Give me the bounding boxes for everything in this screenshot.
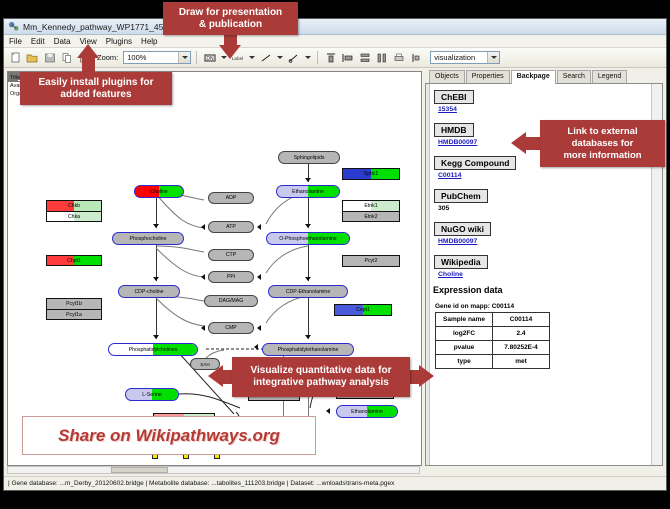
open-folder-icon[interactable] [25, 50, 40, 65]
visualization-value: visualization [431, 53, 487, 62]
arrowhead [153, 335, 159, 339]
callout-link: Link to external databases for more info… [540, 120, 665, 167]
callout-visualize-pointer [208, 365, 223, 387]
datanode-icon[interactable]: DN [202, 50, 217, 65]
pathway-drawing: Title: Availa Organi [8, 72, 421, 465]
table-row: pvalue 7.80252E-4 [436, 341, 550, 355]
node-cept1[interactable]: Cept1 [334, 304, 392, 316]
expression-table: Sample name C00114 log2FC 2.4 pvalue 7.8… [435, 312, 550, 369]
callout-plugins: Easily install plugins for added feature… [20, 72, 172, 105]
tab-objects[interactable]: Objects [429, 70, 465, 83]
node-cdp-ethanolamine[interactable]: CDP-Ethanolamine [268, 285, 348, 298]
node-ppi[interactable]: PPi [208, 271, 254, 283]
node-pcyt2[interactable]: Pcyt2 [342, 255, 400, 267]
expr-key-pvalue: pvalue [436, 341, 493, 355]
pathvisio-icon [8, 21, 19, 32]
zoom-label: Zoom: [97, 53, 118, 62]
node-pcyt1b[interactable]: Pcyt1b [46, 298, 102, 309]
svg-text:DN: DN [206, 56, 214, 62]
toolbar-separator-2 [317, 51, 318, 64]
zoom-combo[interactable]: 100% [123, 51, 191, 64]
cofactor-arc-etn-ppi [258, 244, 314, 280]
expr-key-type: type [436, 355, 493, 369]
db-header-chebi: ChEBI [434, 90, 474, 104]
snap-icon[interactable] [408, 50, 423, 65]
toolbar-separator [196, 51, 197, 64]
stack-vertical-icon[interactable] [357, 50, 372, 65]
node-chkb[interactable]: Chkb [46, 200, 102, 211]
arrowhead [257, 325, 261, 331]
node-ethanolamine-lower[interactable]: Ethanolamine [336, 405, 398, 418]
db-header-hmdb: HMDB [434, 123, 474, 137]
db-header-pubchem: PubChem [434, 189, 488, 203]
node-etnk2[interactable]: Etnk2 [342, 211, 400, 222]
node-o-phosphoethanolamine[interactable]: O-Phosphoethanolamine [266, 232, 350, 245]
callout-plugins-pointer [77, 44, 99, 58]
align-left-icon[interactable] [340, 50, 355, 65]
db-header-kegg-compound: Kegg Compound [434, 156, 516, 170]
pathway-canvas[interactable]: Title: Availa Organi [7, 71, 422, 466]
menu-item-help[interactable]: Help [141, 37, 157, 46]
node-l-serine-left[interactable]: L-Serine [125, 388, 179, 401]
expression-data-heading: Expression data [433, 285, 651, 295]
node-dag-mag[interactable]: DAG/MAG [204, 295, 258, 307]
db-link-wikipedia[interactable]: Choline [438, 271, 651, 278]
node-sptlc1[interactable]: Sptlc1 [342, 168, 400, 180]
node-etnk1[interactable]: Etnk1 [342, 200, 400, 211]
db-header-nugo-wiki: NuGO wiki [434, 222, 491, 236]
interaction-dropdown-icon[interactable] [303, 51, 312, 65]
arrowhead [254, 344, 258, 350]
callout-share: Share on Wikipathways.org [22, 416, 316, 455]
node-chka[interactable]: Chka [46, 211, 102, 222]
tab-search[interactable]: Search [557, 70, 591, 83]
line-dropdown-icon[interactable] [275, 51, 284, 65]
chevron-down-icon[interactable] [178, 52, 190, 63]
node-cmp[interactable]: CMP [208, 322, 254, 334]
gene-id-on-mapp: Gene id on mapp: C00114 [435, 303, 651, 310]
zoom-value: 100% [124, 53, 178, 62]
expr-key-sample-name: Sample name [436, 313, 493, 327]
db-link-kegg-compound[interactable]: C00114 [438, 172, 651, 179]
arrowhead [257, 274, 261, 280]
expr-val-sample-name: C00114 [493, 313, 550, 327]
callout-visualize: Visualize quantitative data for integrat… [232, 357, 410, 397]
tab-backpage[interactable]: Backpage [511, 70, 556, 84]
new-file-icon[interactable] [8, 50, 23, 65]
canvas-horizontal-scrollbar[interactable] [7, 466, 420, 474]
arrowhead [305, 335, 311, 339]
line-icon[interactable] [258, 50, 273, 65]
scrollbar-thumb[interactable] [111, 467, 169, 473]
align-top-icon[interactable] [323, 50, 338, 65]
title-bar: Mm_Kennedy_pathway_WP1771_45176.gpml [4, 19, 666, 35]
status-bar-text: | Gene database: ...m_Derby_20120602.bri… [8, 480, 394, 487]
callout-share-text: Share on Wikipathways.org [58, 426, 280, 446]
db-link-chebi[interactable]: 15354 [438, 106, 651, 113]
menu-item-plugins[interactable]: Plugins [106, 37, 132, 46]
toolbar[interactable]: Zoom: 100% DN Label [4, 48, 666, 68]
expr-val-pvalue: 7.80252E-4 [493, 341, 550, 355]
node-cdp-choline[interactable]: CDP-choline [118, 285, 180, 298]
copy-icon[interactable] [59, 50, 74, 65]
menu-item-edit[interactable]: Edit [31, 37, 45, 46]
visualization-chevron-down-icon[interactable] [487, 52, 499, 63]
arrowhead [201, 224, 205, 230]
expr-key-log2fc: log2FC [436, 327, 493, 341]
callout-link-pointer [511, 132, 526, 154]
node-phosphatidylcholines[interactable]: Phosphatidylcholines [108, 343, 198, 356]
status-bar: | Gene database: ...m_Derby_20120602.bri… [4, 476, 666, 490]
node-phosphocholine[interactable]: Phosphocholine [112, 232, 184, 245]
interaction-icon[interactable] [286, 50, 301, 65]
expr-val-type: met [493, 355, 550, 369]
node-adp[interactable]: ADP [208, 192, 254, 204]
menu-item-data[interactable]: Data [54, 37, 71, 46]
save-icon[interactable] [42, 50, 57, 65]
callout-draw-pointer [219, 45, 241, 59]
arrowhead [305, 178, 311, 182]
arrowhead [257, 224, 261, 230]
menu-item-file[interactable]: File [9, 37, 22, 46]
node-phosphatidylethanolamine[interactable]: Phosphatidylethanolamine [262, 343, 354, 356]
arrowhead [201, 325, 205, 331]
arrowhead [326, 408, 330, 414]
arrowhead [201, 274, 205, 280]
node-chpt1[interactable]: Chpt1 [46, 255, 102, 266]
tab-legend[interactable]: Legend [592, 70, 627, 83]
table-row: Sample name C00114 [436, 313, 550, 327]
callout-draw: Draw for presentation & publication [163, 2, 298, 35]
node-choline-top[interactable]: Choline [134, 185, 184, 198]
cofactor-arc-etn-cmp [258, 294, 314, 330]
expr-val-log2fc: 2.4 [493, 327, 550, 341]
node-sphingolipids[interactable]: Sphingolipids [278, 151, 340, 164]
label-dropdown-icon[interactable] [247, 51, 256, 65]
node-ctp[interactable]: CTP [208, 249, 254, 261]
table-row: log2FC 2.4 [436, 327, 550, 341]
db-link-nugo-wiki[interactable]: HMDB00097 [438, 238, 651, 245]
screenshot-root: Mm_Kennedy_pathway_WP1771_45176.gpml Fil… [0, 0, 670, 509]
tab-properties[interactable]: Properties [466, 70, 510, 83]
visualization-combo[interactable]: visualization [430, 51, 500, 64]
db-value-pubchem: 305 [438, 205, 651, 212]
db-header-wikipedia: Wikipedia [434, 255, 488, 269]
side-panel-tabs[interactable]: Objects Properties Backpage Search Legen… [425, 71, 663, 84]
print-icon[interactable] [391, 50, 406, 65]
table-row: type met [436, 355, 550, 369]
distribute-icon[interactable] [374, 50, 389, 65]
menu-bar[interactable]: File Edit Data View Plugins Help [4, 35, 666, 48]
node-atp[interactable]: ATP [208, 221, 254, 233]
callout-visualize-pointer-right [419, 365, 434, 387]
node-pcyt1a[interactable]: Pcyt1a [46, 309, 102, 320]
node-ethanolamine[interactable]: Ethanolamine [276, 185, 340, 198]
